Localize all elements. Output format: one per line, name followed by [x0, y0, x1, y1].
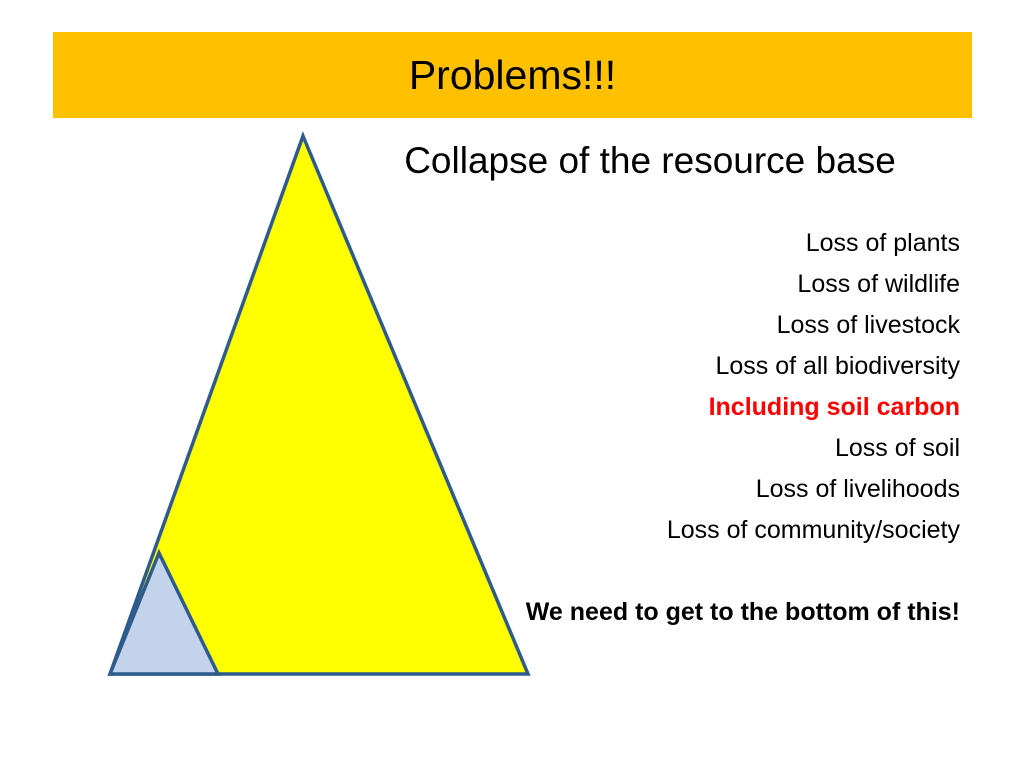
list-item: Loss of wildlife	[340, 264, 960, 305]
list-spacer	[340, 551, 960, 592]
title-banner: Problems!!!	[53, 32, 972, 118]
list-item: Loss of all biodiversity	[340, 346, 960, 387]
section-heading: Collapse of the resource base	[340, 140, 960, 181]
content-column: Collapse of the resource base Loss of pl…	[340, 140, 960, 633]
closing-statement: We need to get to the bottom of this!	[340, 592, 960, 633]
list-item: Loss of plants	[340, 223, 960, 264]
list-item: Loss of soil	[340, 428, 960, 469]
loss-list: Loss of plants Loss of wildlife Loss of …	[340, 223, 960, 551]
list-item: Loss of community/society	[340, 510, 960, 551]
list-item-highlight: Including soil carbon	[340, 387, 960, 428]
inner-base-triangle	[110, 553, 218, 674]
list-item: Loss of livestock	[340, 305, 960, 346]
slide-canvas: Problems!!! Collapse of the resource bas…	[0, 0, 1024, 768]
list-item: Loss of livelihoods	[340, 469, 960, 510]
page-title: Problems!!!	[409, 55, 616, 96]
